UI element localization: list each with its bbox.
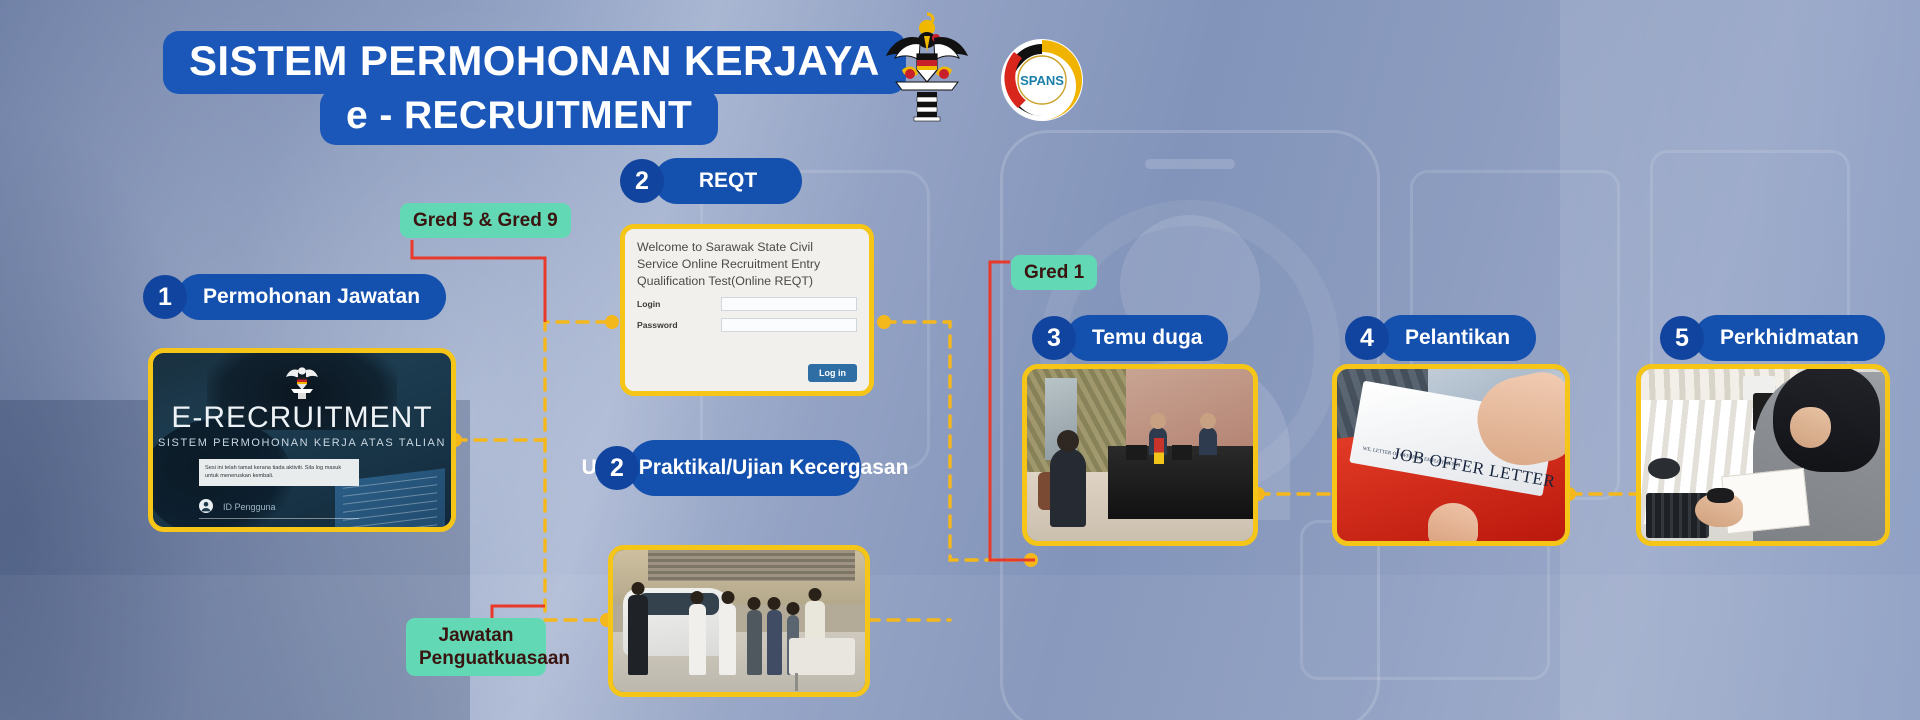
step-badge-5: 5 bbox=[1660, 316, 1704, 360]
erecruitment-subtitle: SISTEM PERMOHONAN KERJA ATAS TALIAN bbox=[153, 437, 451, 449]
wire-step1-to-requt bbox=[455, 322, 610, 440]
erecruitment-password-label: Kata Laluan bbox=[223, 530, 271, 532]
chip-gred-1: Gred 1 bbox=[1011, 255, 1097, 290]
wire-requt-to-interview bbox=[884, 322, 1030, 560]
step-pill-2-requt[interactable]: 2 REQT bbox=[620, 158, 802, 204]
step-pill-3[interactable]: 3 Temu duga bbox=[1032, 315, 1228, 361]
service-scene bbox=[1641, 369, 1885, 541]
chip-jawatan-penguatkuasaan: Jawatan Penguatkuasaan bbox=[406, 618, 546, 676]
spans-logo-icon: SPANS bbox=[1000, 38, 1084, 122]
page-title-line1: SISTEM PERMOHONAN KERJAYA bbox=[163, 31, 906, 94]
chip-jawatan-line1: Jawatan bbox=[439, 625, 514, 646]
requt-login-row: Login bbox=[637, 297, 857, 311]
step-pill-1[interactable]: 1 Permohonan Jawatan bbox=[143, 274, 446, 320]
photo-job-offer[interactable]: WE, LETTER OF OFFER OF EMPLOYMENT JOB OF… bbox=[1332, 364, 1570, 546]
requt-password-row: Password bbox=[637, 318, 857, 332]
wire-dot-requt-in bbox=[605, 315, 619, 329]
step-label-perkhidmatan: Perkhidmatan bbox=[1694, 315, 1885, 361]
photo-practical-test[interactable] bbox=[608, 545, 870, 697]
erecruitment-title: E-RECRUITMENT bbox=[153, 401, 451, 435]
interview-scene bbox=[1027, 369, 1253, 541]
page-header: SISTEM PERMOHONAN KERJAYA e - RECRUITMEN… bbox=[0, 0, 1920, 140]
step-badge-2-requt: 2 bbox=[620, 159, 664, 203]
sarawak-coat-of-arms-icon bbox=[884, 8, 970, 126]
erecruitment-userid-label: ID Pengguna bbox=[223, 502, 276, 512]
erecruitment-screen: E-RECRUITMENT SISTEM PERMOHONAN KERJA AT… bbox=[153, 353, 451, 527]
step-badge-4: 4 bbox=[1345, 316, 1389, 360]
photo-service[interactable] bbox=[1636, 364, 1890, 546]
chip-jawatan-line2: Penguatkuasaan bbox=[419, 648, 570, 669]
spans-logo-text: SPANS bbox=[1020, 73, 1064, 88]
page-title-line2: e - RECRUITMENT bbox=[320, 89, 718, 145]
step-label-pelantikan: Pelantikan bbox=[1379, 315, 1536, 361]
step-label-temu-duga: Temu duga bbox=[1066, 315, 1228, 361]
lock-icon bbox=[199, 527, 213, 532]
step-badge-3: 3 bbox=[1032, 316, 1076, 360]
chip-gred-5-9: Gred 5 & Gred 9 bbox=[400, 203, 571, 238]
step-label-ujian-praktikal: Ujian Praktikal/Ujian Kecergasan bbox=[629, 440, 861, 496]
step-pill-5[interactable]: 5 Perkhidmatan bbox=[1660, 315, 1885, 361]
step-badge-1: 1 bbox=[143, 275, 187, 319]
erecruitment-crest-icon bbox=[285, 358, 319, 400]
erecruitment-session-notice: Sesi ini telah tamat kerana tiada aktivi… bbox=[199, 459, 359, 486]
photo-erecruitment[interactable]: E-RECRUITMENT SISTEM PERMOHONAN KERJA AT… bbox=[148, 348, 456, 532]
requt-password-label: Password bbox=[637, 320, 721, 330]
step-label-requt: REQT bbox=[654, 158, 802, 204]
user-icon bbox=[199, 499, 213, 513]
requt-login-button[interactable]: Log in bbox=[808, 364, 857, 382]
step-badge-2-ujian: 2 bbox=[595, 446, 639, 490]
job-offer-scene: WE, LETTER OF OFFER OF EMPLOYMENT JOB OF… bbox=[1337, 369, 1565, 541]
photo-interview[interactable] bbox=[1022, 364, 1258, 546]
requt-login-input[interactable] bbox=[721, 297, 857, 311]
requt-login-form[interactable]: Welcome to Sarawak State Civil Service O… bbox=[620, 224, 874, 396]
step-pill-4[interactable]: 4 Pelantikan bbox=[1345, 315, 1536, 361]
practical-test-scene bbox=[613, 550, 865, 692]
requt-heading: Welcome to Sarawak State Civil Service O… bbox=[637, 239, 857, 290]
requt-login-label: Login bbox=[637, 299, 721, 309]
requt-password-input[interactable] bbox=[721, 318, 857, 332]
step-pill-2-ujian[interactable]: 2 Ujian Praktikal/Ujian Kecergasan bbox=[595, 440, 861, 496]
wire-dot-requt-out bbox=[877, 315, 891, 329]
step-label-permohonan-jawatan: Permohonan Jawatan bbox=[177, 274, 446, 320]
